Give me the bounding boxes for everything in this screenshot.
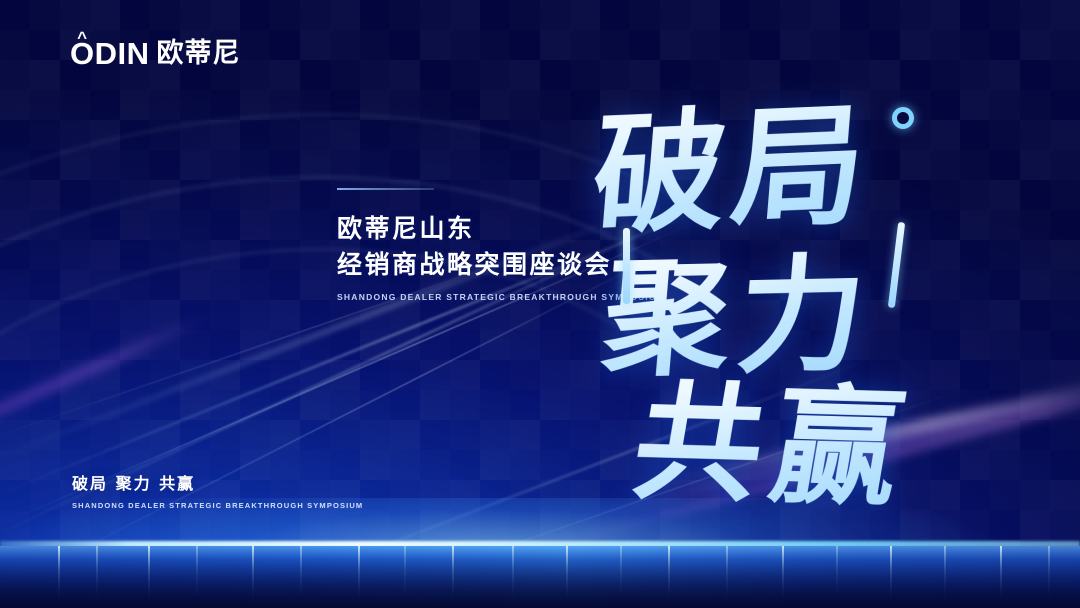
footer-slogan-cn: 破局 聚力 共赢 [72,470,363,494]
hero-line-3: 共赢 [622,338,928,531]
circumflex-icon: ^ [77,29,87,46]
logo-o-letter: ^ O [70,38,95,69]
title-divider [337,188,434,190]
event-title-line-2: 经销商战略突围座谈会 [337,247,665,283]
white-streak-right [699,383,1080,477]
event-backdrop: ^ O DIN 欧蒂尼 欧蒂尼山东 经销商战略突围座谈会 SHANDONG DE… [0,0,1080,608]
logo-chinese: 欧蒂尼 [157,40,241,67]
checkerboard-texture-fine [0,0,1080,608]
logo-latin: ^ O DIN [70,38,150,69]
brand-logo: ^ O DIN 欧蒂尼 [70,38,241,69]
floor-reflection [0,546,1080,608]
event-title-block: 欧蒂尼山东 经销商战略突围座谈会 SHANDONG DEALER STRATEG… [337,188,665,302]
purple-streak-3 [519,372,1080,558]
curve-sweep-1 [0,102,914,608]
purple-streak-4 [0,308,217,441]
event-title-line-1: 欧蒂尼山东 [337,211,665,247]
logo-latin-rest: DIN [95,38,150,69]
light-rays [0,0,1080,608]
checkerboard-texture [0,0,1080,608]
event-subtitle-en: SHANDONG DEALER STRATEGIC BREAKTHROUGH S… [337,292,665,302]
tick-mark-right-icon [888,222,905,308]
curve-sweep-2 [0,11,995,608]
purple-streak-1 [559,370,1080,528]
circle-accent-icon [892,107,914,129]
footer-slogan: 破局 聚力 共赢 SHANDONG DEALER STRATEGIC BREAK… [72,470,363,510]
footer-slogan-en: SHANDONG DEALER STRATEGIC BREAKTHROUGH S… [72,501,363,510]
tick-mark-left-icon [623,228,630,304]
purple-streak-2 [599,369,1080,501]
